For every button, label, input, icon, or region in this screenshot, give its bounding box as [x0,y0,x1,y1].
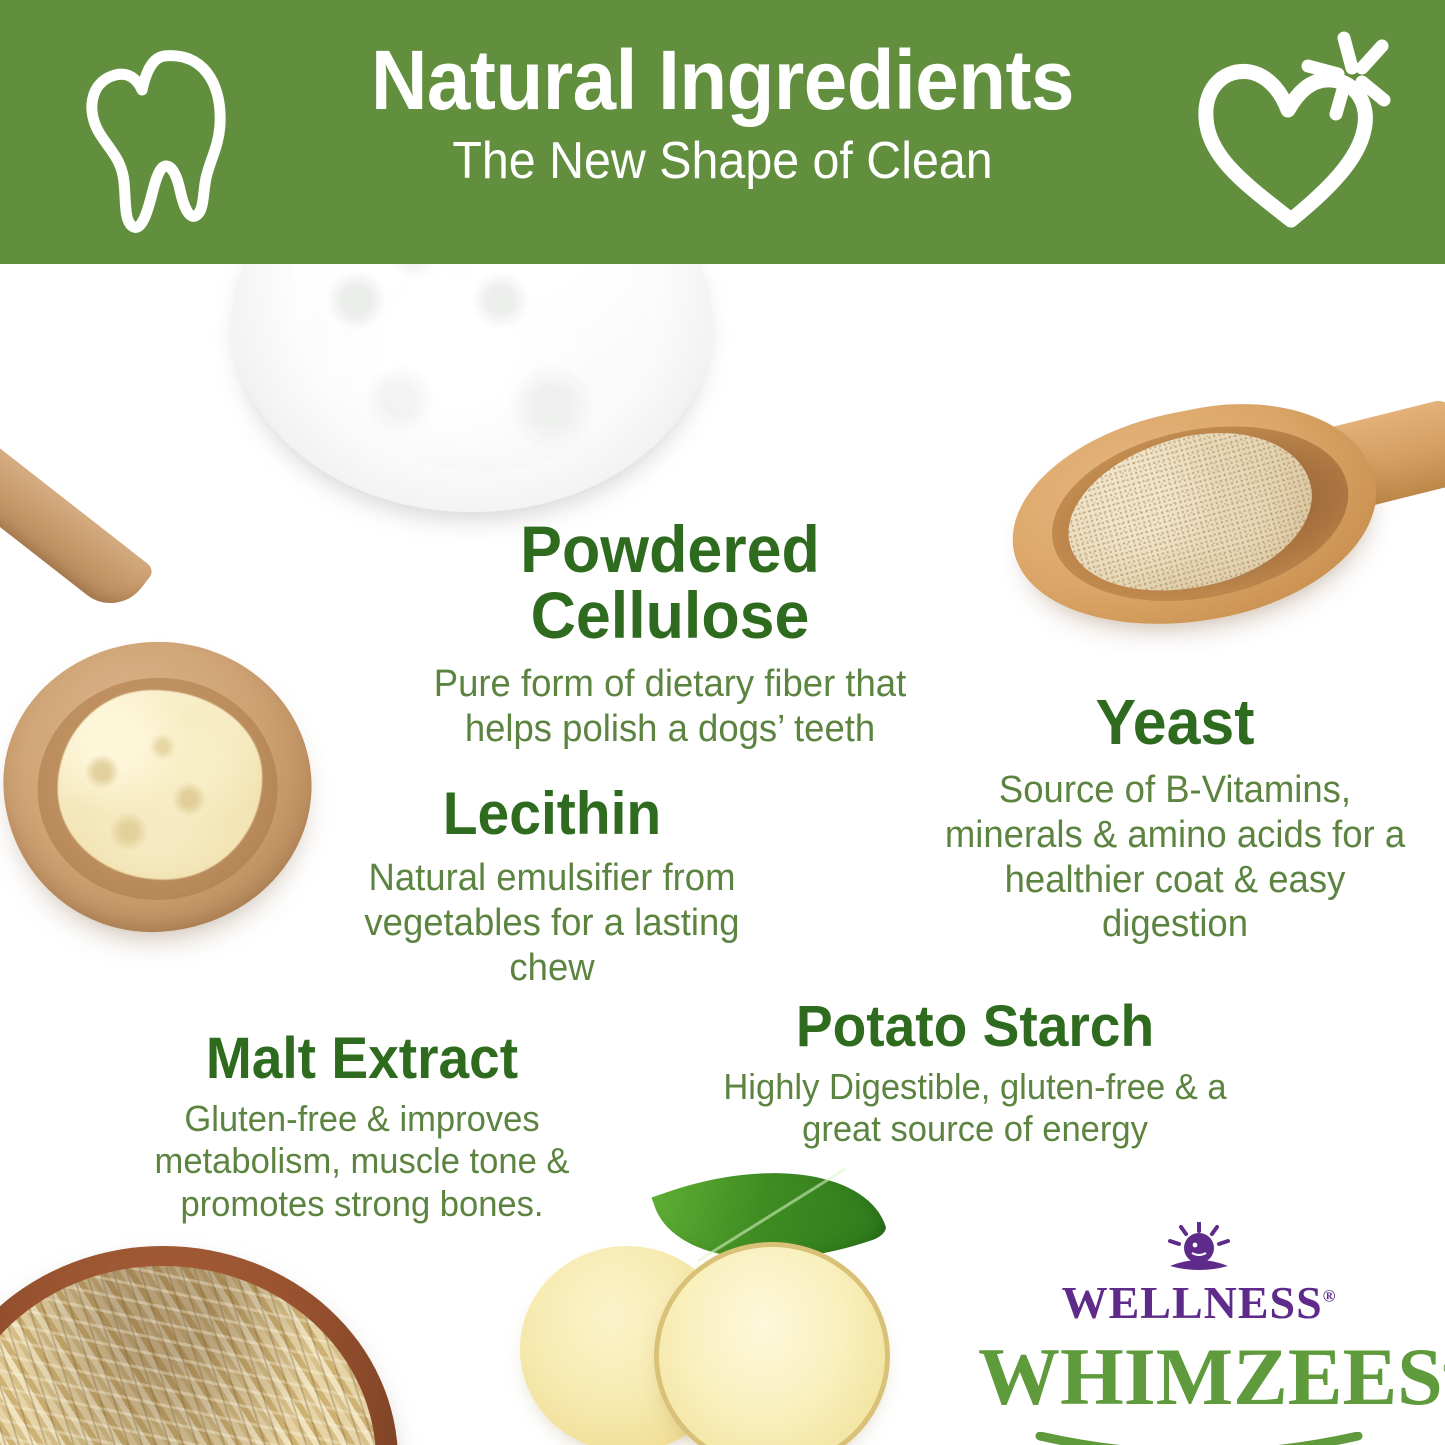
infographic-root: Natural Ingredients The New Shape of Cle… [0,0,1445,1445]
ingredient-title: Yeast [942,690,1408,754]
spoon-handle-shape [0,416,155,619]
header-banner: Natural Ingredients The New Shape of Cle… [0,0,1445,264]
brand-logo: WELLNESS® WHIMZEES® [978,1222,1420,1422]
barley-bowl-image [0,1246,398,1445]
ingredient-title: Malt Extract [125,1030,600,1088]
ingredient-block-lecithin: Lecithin Natural emulsifier from vegetab… [352,784,752,990]
ingredient-description: Natural emulsifier from vegetables for a… [360,856,744,990]
barley-grains-shape [0,1266,376,1445]
whimzees-swoosh-icon [1034,1432,1364,1445]
wellness-text: WELLNESS [1062,1277,1323,1328]
ingredient-block-malt-extract: Malt Extract Gluten-free & improves meta… [112,1030,612,1225]
ingredient-title: Powdered Cellulose [395,516,946,648]
ingredient-block-yeast: Yeast Source of B-Vitamins, minerals & a… [930,690,1420,947]
ingredient-description: Gluten-free & improves metabolism, muscl… [122,1098,602,1225]
whimzees-text: WHIMZEES [978,1331,1443,1422]
heart-sparkle-icon [1178,24,1410,236]
ingredient-block-potato-starch: Potato Starch Highly Digestible, gluten-… [690,998,1260,1151]
whimzees-wordmark: WHIMZEES® [978,1336,1420,1418]
ingredient-description: Highly Digestible, gluten-free & a great… [701,1066,1248,1151]
sun-face-emblem-icon [1164,1222,1234,1282]
wellness-registered-mark: ® [1323,1287,1337,1306]
ingredient-description: Source of B-Vitamins, minerals & amino a… [940,768,1410,947]
yeast-scoop-image [976,319,1445,701]
ingredient-block-powdered-cellulose: Powdered Cellulose Pure form of dietary … [380,516,960,752]
ingredient-title: Potato Starch [704,998,1246,1056]
wellness-wordmark: WELLNESS® [978,1280,1420,1326]
ingredient-description: Pure form of dietary fiber that helps po… [392,662,949,752]
ingredient-title: Lecithin [362,784,742,844]
lecithin-spoon-image [0,383,378,988]
